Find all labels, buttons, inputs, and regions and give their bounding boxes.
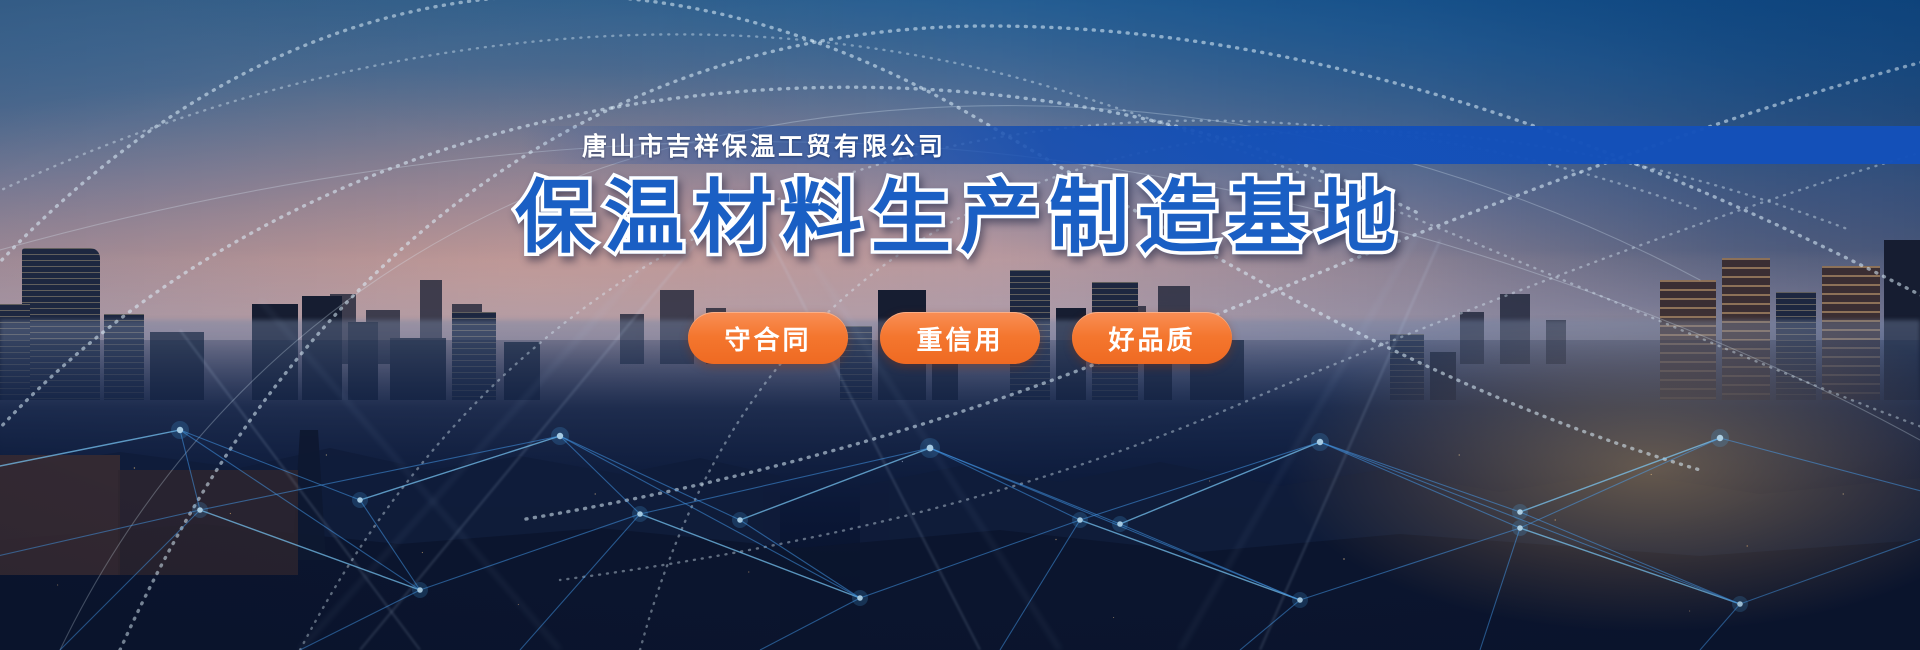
pill-zhong-xin-yong[interactable]: 重信用: [880, 312, 1040, 364]
pill-shou-he-tong[interactable]: 守合同: [688, 312, 848, 364]
pill-label: 好品质: [1108, 320, 1195, 357]
pill-label: 守合同: [724, 320, 811, 357]
company-name: 唐山市吉祥保温工贸有限公司: [582, 127, 946, 163]
feature-pill-group: 守合同 重信用 好品质: [0, 312, 1920, 364]
pill-hao-pin-zhi[interactable]: 好品质: [1072, 312, 1232, 364]
headline: 保温材料生产制造基地: [0, 176, 1920, 261]
pill-label: 重信用: [916, 320, 1003, 357]
company-name-ribbon: 唐山市吉祥保温工贸有限公司: [520, 126, 1920, 164]
headline-text: 保温材料生产制造基地: [515, 173, 1405, 262]
banner-content: 唐山市吉祥保温工贸有限公司 保温材料生产制造基地 守合同 重信用 好品质: [0, 0, 1920, 650]
hero-banner: 唐山市吉祥保温工贸有限公司 保温材料生产制造基地 守合同 重信用 好品质: [0, 0, 1920, 650]
